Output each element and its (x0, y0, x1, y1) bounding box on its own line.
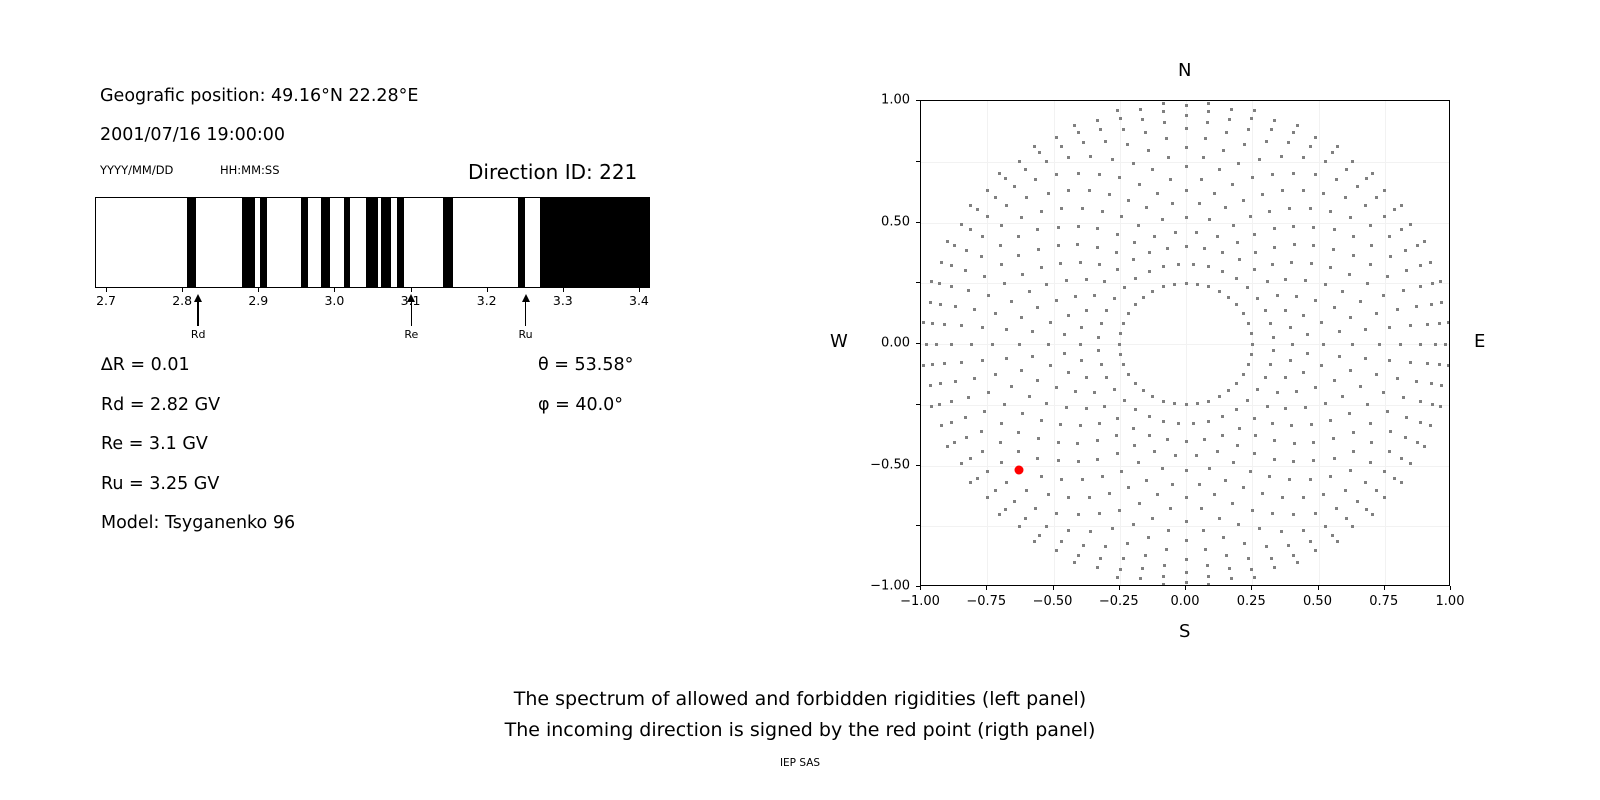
direction-dot (954, 305, 957, 308)
direction-dot (1295, 390, 1298, 393)
direction-dot (981, 235, 984, 238)
direction-dot (1221, 434, 1224, 437)
direction-dot (1251, 343, 1254, 346)
direction-dot (1077, 460, 1080, 463)
direction-dot (1036, 379, 1039, 382)
direction-dot (1031, 355, 1034, 358)
direction-dot (1185, 581, 1188, 584)
gridline-vertical (1186, 101, 1187, 585)
direction-dot (1077, 554, 1080, 557)
direction-dot (946, 240, 949, 243)
direction-dot (1225, 554, 1228, 557)
direction-dot (1375, 373, 1378, 376)
direction-dot (1204, 548, 1207, 551)
direction-dot (946, 445, 949, 448)
direction-dot (1067, 371, 1070, 374)
direction-dot (1013, 185, 1016, 188)
direction-dot (939, 382, 942, 385)
direction-dot (1309, 207, 1312, 210)
direction-dot (1098, 512, 1101, 515)
direction-dot (1351, 160, 1354, 163)
direction-dot (980, 255, 983, 258)
direction-dot (1177, 263, 1180, 266)
direction-dot (1096, 439, 1099, 442)
scatter-xtick-label: −0.25 (1099, 594, 1139, 609)
direction-dot (1270, 128, 1273, 131)
direction-dot (1312, 244, 1315, 247)
direction-dot (1079, 343, 1082, 346)
direction-dot (1271, 512, 1274, 515)
direction-dot (1018, 525, 1021, 528)
scatter-ytick-label: 0.50 (842, 214, 910, 229)
direction-dot (1082, 141, 1085, 144)
direction-dot (1276, 391, 1279, 394)
direction-dot (1238, 427, 1241, 430)
direction-dot (1127, 373, 1130, 376)
scatter-ytick-label: −0.50 (842, 457, 910, 472)
direction-dot (940, 424, 943, 427)
direction-dot (943, 362, 946, 365)
direction-dot (1273, 439, 1276, 442)
direction-dot (1320, 321, 1323, 324)
direction-dot (1309, 540, 1312, 543)
direction-dot (1185, 469, 1188, 472)
direction-dot (980, 430, 983, 433)
direction-dot (1196, 283, 1199, 286)
direction-dot (1081, 478, 1084, 481)
direction-dot (969, 228, 972, 231)
direction-dot (1429, 261, 1432, 264)
direction-dot (1000, 224, 1003, 227)
direction-dot (1003, 282, 1006, 285)
direction-dot (1038, 151, 1041, 154)
direction-dot (1005, 481, 1008, 484)
direction-dot (1141, 118, 1144, 121)
direction-dot (1089, 530, 1092, 533)
direction-dot (1137, 461, 1140, 464)
direction-dot (1169, 178, 1172, 181)
direction-dot (1270, 557, 1273, 560)
direction-dot (1020, 216, 1023, 219)
direction-dot (950, 264, 953, 267)
direction-dot (1338, 355, 1341, 358)
direction-dot (1261, 193, 1264, 196)
direction-dot (1096, 227, 1099, 230)
direction-dot (1173, 283, 1176, 286)
scatter-ytick-label: −1.00 (842, 579, 910, 594)
direction-dot (1142, 389, 1145, 392)
direction-dot (1049, 321, 1052, 324)
direction-dot (1085, 309, 1088, 312)
direction-dot (1314, 136, 1317, 139)
compass-east-label: E (1474, 331, 1485, 352)
direction-dot (1174, 231, 1177, 234)
direction-dot (1134, 408, 1137, 411)
direction-dot (1116, 268, 1119, 271)
direction-dot (1105, 309, 1108, 312)
direction-dot (950, 400, 953, 403)
caption-line-1: The spectrum of allowed and forbidden ri… (0, 688, 1600, 710)
direction-dot (1371, 172, 1374, 175)
direction-dot (1216, 235, 1219, 238)
direction-dot (1067, 529, 1070, 532)
direction-dot (1349, 469, 1352, 472)
direction-dot (1020, 369, 1023, 372)
direction-dot (1273, 566, 1276, 569)
direction-dot (1289, 359, 1292, 362)
direction-dot (1202, 156, 1205, 159)
direction-dot (1429, 424, 1432, 427)
gridline-vertical (1319, 101, 1320, 585)
direction-dot (1273, 458, 1276, 461)
direction-dot (1312, 459, 1315, 462)
direction-dot (1099, 557, 1102, 560)
direction-dot (1207, 420, 1210, 423)
direction-dot (1111, 158, 1114, 161)
direction-dot (1057, 244, 1060, 247)
direction-dot (1292, 131, 1295, 134)
direction-dot (1396, 377, 1399, 380)
direction-dot (1004, 177, 1007, 180)
direction-dot (1080, 326, 1083, 329)
direction-dot (1098, 173, 1101, 176)
direction-dot (1163, 564, 1166, 567)
direction-dot (1310, 423, 1313, 426)
scatter-ytick-mark (916, 404, 920, 405)
direction-dot (1162, 285, 1165, 288)
direction-dot (1020, 316, 1023, 319)
direction-dot (1100, 322, 1103, 325)
direction-dot (1409, 324, 1412, 327)
direction-dot (1218, 395, 1221, 398)
direction-dot (969, 481, 972, 484)
direction-dot (1207, 575, 1210, 578)
direction-dot (1369, 461, 1372, 464)
direction-dot (1200, 507, 1203, 510)
direction-dot (1089, 155, 1092, 158)
direction-dot (1329, 419, 1332, 422)
direction-dot (1419, 285, 1422, 288)
incoming-direction-point (1015, 466, 1024, 475)
direction-dot (1147, 149, 1150, 152)
direction-dot (1119, 353, 1122, 356)
direction-dot (1400, 204, 1403, 207)
direction-dot (1055, 136, 1058, 139)
direction-dot (1067, 314, 1070, 317)
direction-dot (1037, 248, 1040, 251)
direction-dot (1076, 442, 1079, 445)
direction-dot (991, 343, 994, 346)
direction-dot (950, 343, 953, 346)
direction-dot (1171, 202, 1174, 205)
direction-dot (1079, 424, 1082, 427)
direction-dot (1198, 202, 1201, 205)
direction-dot (1356, 185, 1359, 188)
direction-dot (1055, 299, 1058, 302)
direction-dot (1073, 124, 1076, 127)
direction-dot (1036, 306, 1039, 309)
direction-dot (1242, 486, 1245, 489)
direction-dot (1088, 496, 1091, 499)
direction-dot (1287, 141, 1290, 144)
direction-dot (999, 441, 1002, 444)
direction-dot (1258, 158, 1261, 161)
direction-dot (1148, 434, 1151, 437)
direction-dot (1352, 254, 1355, 257)
direction-dot (1097, 349, 1100, 352)
direction-dot (1365, 177, 1368, 180)
direction-dot (1388, 326, 1391, 329)
direction-dot (1264, 309, 1267, 312)
direction-dot (1359, 300, 1362, 303)
direction-dot (1302, 189, 1305, 192)
direction-dot (1195, 231, 1198, 234)
scatter-ytick-mark (916, 282, 920, 283)
direction-dot (930, 280, 933, 283)
direction-dot (1185, 146, 1188, 149)
direction-dot (1076, 243, 1079, 246)
direction-dot (925, 343, 928, 346)
direction-dot (1060, 207, 1063, 210)
direction-dot (1231, 183, 1234, 186)
direction-dot (1025, 196, 1028, 199)
direction-dot (1126, 143, 1129, 146)
direction-dot (1352, 450, 1355, 453)
direction-dot (1218, 168, 1221, 171)
direction-dot (1207, 102, 1210, 105)
direction-dot (983, 275, 986, 278)
scatter-ytick-mark (916, 161, 920, 162)
direction-dot (1126, 542, 1129, 545)
direction-dot (973, 377, 976, 380)
direction-dot (1122, 322, 1125, 325)
scatter-xtick-label: −1.00 (900, 594, 940, 609)
direction-dot (1288, 207, 1291, 210)
direction-dot (1249, 215, 1252, 218)
direction-dot (1103, 280, 1106, 283)
direction-dot (1133, 444, 1136, 447)
direction-dot (1003, 403, 1006, 406)
direction-dot (965, 249, 968, 252)
direction-dot (1063, 333, 1066, 336)
direction-dot (1162, 575, 1165, 578)
direction-dot (1025, 489, 1028, 492)
direction-dot (1111, 527, 1114, 530)
direction-dot (1077, 225, 1080, 228)
direction-dot (931, 363, 934, 366)
direction-dot (987, 294, 990, 297)
direction-dot (1306, 352, 1309, 355)
direction-dot (950, 285, 953, 288)
scatter-ytick-mark (916, 465, 920, 466)
direction-dot (1302, 371, 1305, 374)
scatter-xtick-mark (986, 586, 987, 590)
direction-dot (1148, 415, 1151, 418)
direction-dot (1185, 539, 1188, 542)
direction-dot (1162, 420, 1165, 423)
direction-dot (1419, 400, 1422, 403)
direction-dot (998, 513, 1001, 516)
direction-dot (1345, 517, 1348, 520)
direction-dot (1224, 479, 1227, 482)
direction-dot (1142, 296, 1145, 299)
direction-dot (1349, 216, 1352, 219)
direction-dot (1324, 525, 1327, 528)
direction-dot (1013, 500, 1016, 503)
direction-dot (1431, 403, 1434, 406)
direction-dot (1284, 309, 1287, 312)
direction-dot (976, 477, 979, 480)
direction-dot (1185, 571, 1188, 574)
direction-dot (1324, 160, 1327, 163)
direction-dot (1310, 262, 1313, 265)
direction-dot (1165, 548, 1168, 551)
direction-dot (1389, 255, 1392, 258)
direction-dot (1017, 450, 1020, 453)
direction-dot (1322, 493, 1325, 496)
direction-dot (1077, 131, 1080, 134)
direction-dot (1119, 332, 1122, 335)
direction-dot (964, 269, 967, 272)
direction-dot (1426, 323, 1429, 326)
direction-dot (1284, 407, 1287, 410)
footer-institution-label: IEP SAS (0, 757, 1600, 769)
direction-dot (1383, 189, 1386, 192)
direction-dot (1288, 478, 1291, 481)
direction-dot (1393, 477, 1396, 480)
direction-dot (1400, 481, 1403, 484)
direction-dot (1005, 328, 1008, 331)
direction-dot (1246, 399, 1249, 402)
direction-dot (1047, 192, 1050, 195)
direction-dot (1370, 244, 1373, 247)
direction-dot (1034, 507, 1037, 510)
direction-dot (1272, 349, 1275, 352)
direction-dot (1365, 508, 1368, 511)
direction-dot (1280, 530, 1283, 533)
direction-dot (1101, 475, 1104, 478)
direction-dot (1133, 241, 1136, 244)
direction-dot (1306, 333, 1309, 336)
direction-dot (1228, 567, 1231, 570)
direction-dot (1344, 489, 1347, 492)
direction-dot (1162, 102, 1165, 105)
direction-dot (1284, 376, 1287, 379)
direction-dot (1173, 402, 1176, 405)
direction-dot (1338, 330, 1341, 333)
direction-dot (1171, 483, 1174, 486)
direction-dot (1268, 475, 1271, 478)
direction-dot (1145, 479, 1148, 482)
direction-dot (1033, 145, 1036, 148)
direction-dot (1238, 258, 1241, 261)
direction-dot (1230, 108, 1233, 111)
direction-dot (1356, 500, 1359, 503)
direction-dot (1351, 343, 1354, 346)
direction-dot (1122, 128, 1125, 131)
direction-dot (1336, 540, 1339, 543)
direction-dot (1218, 517, 1221, 520)
scatter-xtick-label: 1.00 (1436, 594, 1465, 609)
direction-dot (1273, 246, 1276, 249)
direction-dot (960, 324, 963, 327)
direction-dot (1021, 273, 1024, 276)
direction-dot (931, 322, 934, 325)
direction-dot (1364, 357, 1367, 360)
direction-dot (1302, 314, 1305, 317)
direction-dot (1221, 251, 1224, 254)
direction-dot (1250, 332, 1253, 335)
direction-dot (1045, 525, 1048, 528)
direction-dot (1388, 359, 1391, 362)
direction-dot (1364, 328, 1367, 331)
direction-dot (1132, 162, 1135, 165)
direction-dot (970, 343, 973, 346)
direction-dot (1271, 422, 1274, 425)
direction-dot (1137, 224, 1140, 227)
direction-dot (1439, 280, 1442, 283)
direction-dot (1266, 280, 1269, 283)
direction-dot (953, 244, 956, 247)
direction-dot (964, 416, 967, 419)
direction-dot (983, 410, 986, 413)
direction-dot (1269, 322, 1272, 325)
direction-dot (1060, 145, 1063, 148)
direction-dot (1292, 513, 1295, 516)
direction-dot (1369, 224, 1372, 227)
direction-dot (1378, 343, 1381, 346)
direction-dot (1021, 412, 1024, 415)
direction-dot (1203, 438, 1206, 441)
direction-dot (1271, 263, 1274, 266)
direction-dot (1434, 343, 1437, 346)
direction-dot (1314, 173, 1317, 176)
direction-dot (1269, 363, 1272, 366)
direction-dot (1335, 507, 1338, 510)
direction-dot (1231, 502, 1234, 505)
direction-dot (1057, 226, 1060, 229)
direction-dot (1018, 160, 1021, 163)
direction-dot (1145, 206, 1148, 209)
direction-dot (1292, 225, 1295, 228)
scatter-ytick-mark (916, 525, 920, 526)
direction-dot (938, 282, 941, 285)
direction-dot (1256, 388, 1259, 391)
direction-dot (1314, 512, 1317, 515)
direction-dot (1415, 380, 1418, 383)
direction-dot (1207, 265, 1210, 268)
direction-dot (930, 405, 933, 408)
direction-dot (1082, 544, 1085, 547)
direction-dot (1258, 527, 1261, 530)
direction-dot (1309, 478, 1312, 481)
direction-dot (1386, 410, 1389, 413)
direction-dot (1192, 263, 1195, 266)
direction-dot (1085, 407, 1088, 410)
direction-dot (960, 223, 963, 226)
direction-dot (1040, 475, 1043, 478)
scatter-xtick-mark (1053, 586, 1054, 590)
direction-dot (1243, 542, 1246, 545)
direction-dot (1047, 493, 1050, 496)
direction-dot (1302, 529, 1305, 532)
direction-dot (1236, 444, 1239, 447)
scatter-xtick-mark (1318, 586, 1319, 590)
direction-dot (1430, 303, 1433, 306)
direction-dot (1235, 382, 1238, 385)
direction-dot (1017, 254, 1020, 257)
direction-dot (1185, 558, 1188, 561)
